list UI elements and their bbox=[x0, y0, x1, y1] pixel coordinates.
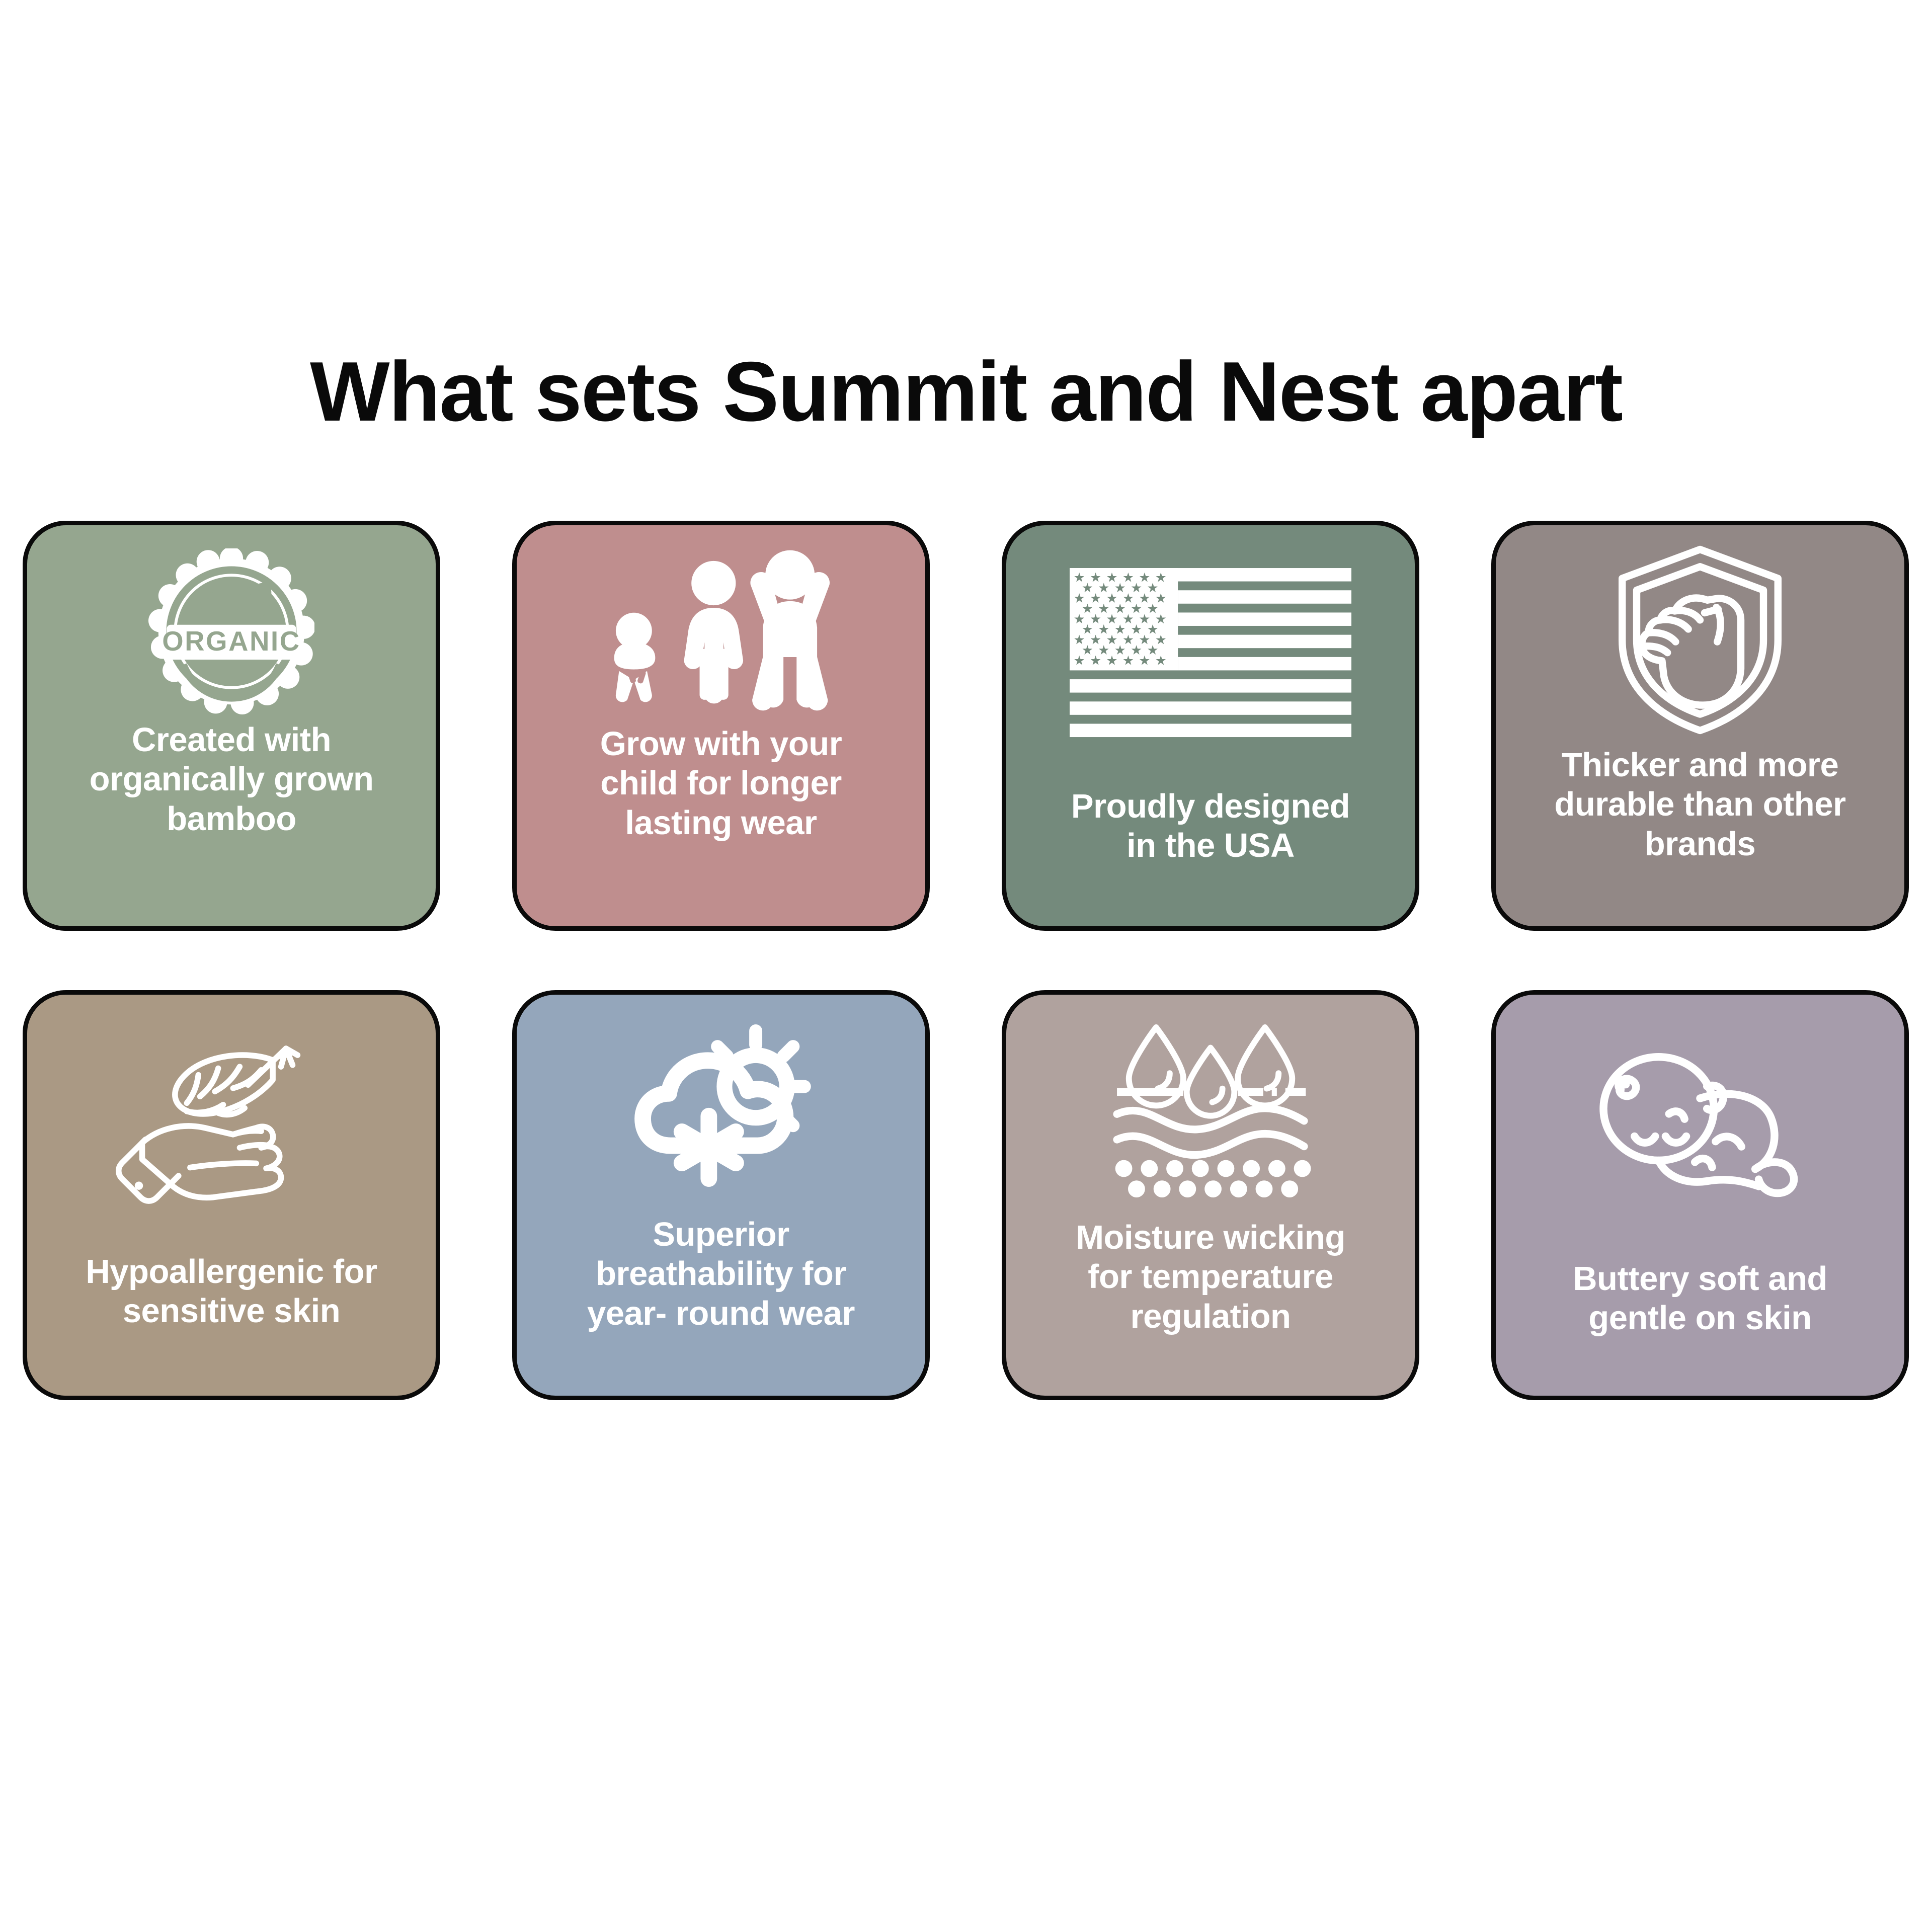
feature-card-buttery-soft[interactable]: Buttery soft and gentle on skin bbox=[1491, 990, 1909, 1400]
feature-card-thicker-durable[interactable]: Thicker and more durable than other bran… bbox=[1491, 521, 1909, 931]
moisture-wicking-icon bbox=[1006, 995, 1415, 1196]
feature-card-label: Thicker and more durable than other bran… bbox=[1496, 746, 1904, 864]
feature-card-grid: ORGANIC Created with organically grown b… bbox=[23, 521, 1909, 1400]
feature-card-label: Proudly designed in the USA bbox=[1006, 787, 1415, 866]
feature-card-label: Superior breathability for year- round w… bbox=[517, 1215, 925, 1333]
feature-card-label: Buttery soft and gentle on skin bbox=[1496, 1259, 1904, 1338]
feature-card-label: Created with organically grown bamboo bbox=[27, 720, 436, 839]
feature-card-label: Moisture wicking for temperature regulat… bbox=[1006, 1218, 1415, 1336]
shield-fist-icon bbox=[1496, 525, 1904, 737]
sun-cloud-snowflake-icon bbox=[517, 995, 925, 1196]
feature-card-breathability[interactable]: Superior breathability for year- round w… bbox=[512, 990, 930, 1400]
organic-badge-text: ORGANIC bbox=[162, 626, 301, 657]
feature-grid-page: What sets Summit and Nest apart bbox=[0, 0, 1932, 1932]
feature-card-label: Grow with your child for longer lasting … bbox=[517, 725, 925, 843]
growing-children-icon bbox=[517, 525, 925, 717]
feature-card-designed-in-usa[interactable]: Proudly designed in the USA bbox=[1002, 521, 1419, 931]
feature-card-label: Hypoallergenic for sensitive skin bbox=[27, 1252, 436, 1331]
feature-card-hypoallergenic[interactable]: Hypoallergenic for sensitive skin bbox=[23, 990, 440, 1400]
organic-badge-icon: ORGANIC bbox=[27, 525, 436, 715]
feature-card-grow-with-child[interactable]: Grow with your child for longer lasting … bbox=[512, 521, 930, 931]
feature-card-organic-bamboo[interactable]: ORGANIC Created with organically grown b… bbox=[23, 521, 440, 931]
feature-card-moisture-wicking[interactable]: Moisture wicking for temperature regulat… bbox=[1002, 990, 1419, 1400]
usa-flag-icon bbox=[1006, 525, 1415, 747]
sleeping-baby-icon bbox=[1496, 995, 1904, 1216]
hand-feather-icon bbox=[27, 995, 436, 1221]
page-title: What sets Summit and Nest apart bbox=[0, 347, 1932, 436]
